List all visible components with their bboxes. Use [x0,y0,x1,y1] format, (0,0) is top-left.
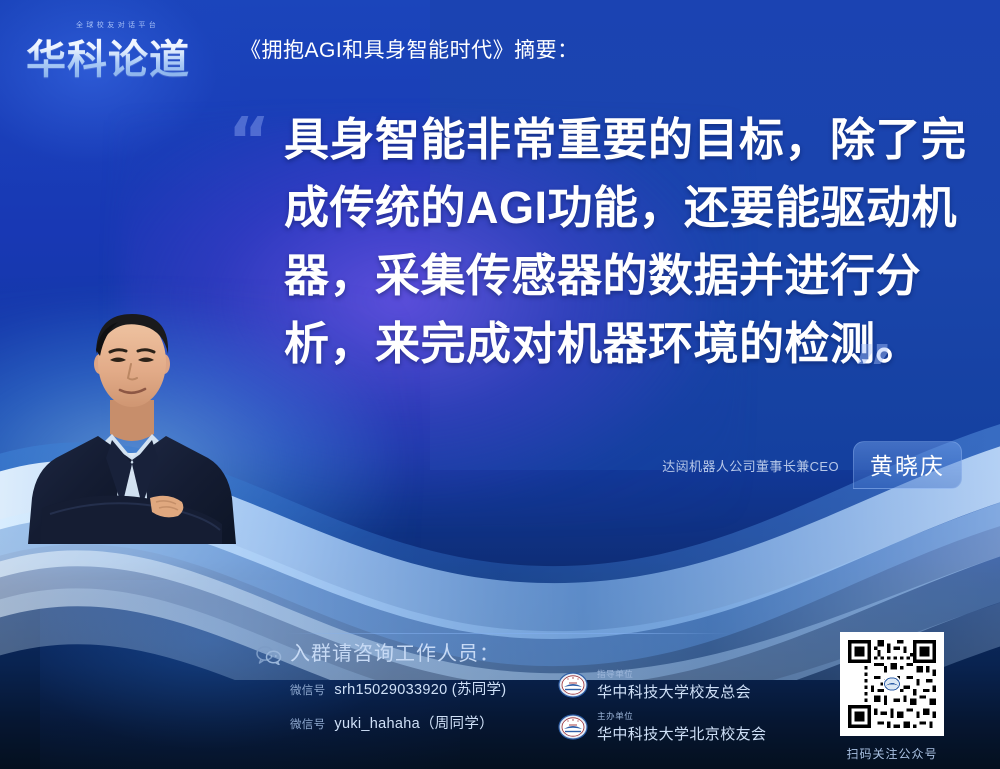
organization-kind: 主办单位 [597,710,766,722]
organization-kind: 指导单位 [597,668,751,680]
hust-emblem-icon [558,714,588,740]
brand-logo-wordmark: 华科论道 [26,27,190,85]
organization-item: 指导单位 华中科技大学校友总会 [558,668,766,702]
speaker-role: 达闼机器人公司董事长兼CEO [662,456,839,475]
contact-label: 微信号 [290,716,325,732]
organization-text: 指导单位 华中科技大学校友总会 [597,668,751,702]
organization-list: 指导单位 华中科技大学校友总会 主办单位 华中科技大学北京校友会 [558,668,766,752]
speaker-name-badge: 黄晓庆 [853,441,962,489]
quote-open-mark: “ [228,110,270,174]
page-title: 《拥抱AGI和具身智能时代》摘要： [240,34,579,64]
contact-value[interactable]: srh15029033920 (苏同学) [334,678,506,699]
footer-divider [288,633,730,634]
organization-item: 主办单位 华中科技大学北京校友会 [558,710,766,744]
contact-heading: 入群请咨询工作人员： [290,637,500,666]
poster-canvas: 全球校友对话平台 华科论道 《拥抱AGI和具身智能时代》摘要： “ 具身智能非常… [0,0,1000,769]
quote-block: “ 具身智能非常重要的目标，除了完 成传统的AGI功能，还要能驱动机 器，采集传… [236,106,956,378]
quote-line: 析，来完成对机器环境的检测。 [236,310,956,378]
quote-line: 成传统的AGI功能，还要能驱动机 [236,174,956,242]
qr-block: 扫码关注公众号 [840,632,952,762]
wechat-icon [256,645,282,665]
organization-text: 主办单位 华中科技大学北京校友会 [597,710,766,744]
organization-name: 华中科技大学北京校友会 [597,723,766,744]
quote-line: 器，采集传感器的数据并进行分 [236,242,956,310]
quote-close-mark: ” [852,338,894,402]
hust-emblem-icon [558,672,588,698]
contact-value[interactable]: yuki_hahaha（周同学） [334,712,494,733]
contact-row: 微信号 srh15029033920 (苏同学) [290,678,506,699]
organization-name: 华中科技大学校友总会 [597,681,751,702]
contact-label: 微信号 [290,682,325,698]
brand-logo: 全球校友对话平台 华科论道 [26,18,222,74]
poster-header: 全球校友对话平台 华科论道 《拥抱AGI和具身智能时代》摘要： [0,0,1000,92]
quote-line: 具身智能非常重要的目标，除了完 [236,106,956,174]
qr-caption: 扫码关注公众号 [840,745,944,762]
speaker-portrait [26,292,238,544]
contact-row: 微信号 yuki_hahaha（周同学） [290,712,494,733]
speaker-attribution: 达闼机器人公司董事长兼CEO 黄晓庆 [662,441,962,489]
qr-code-icon[interactable] [840,632,944,736]
